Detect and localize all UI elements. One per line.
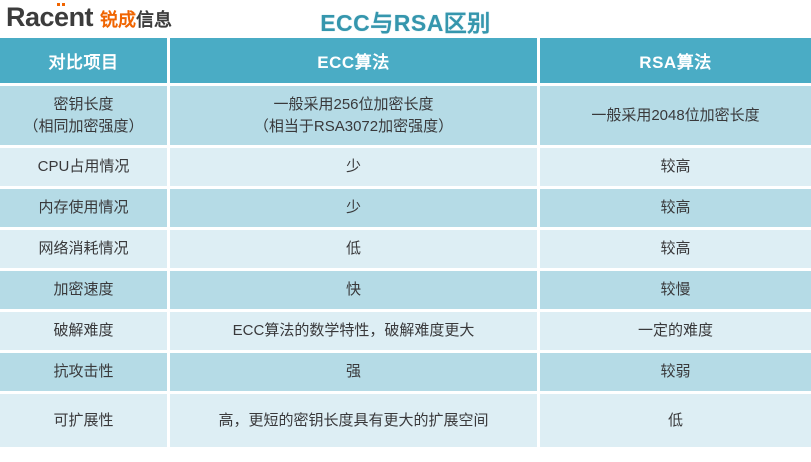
page-root: Racent 锐成信息 ECC与RSA区别 对比项目 ECC算法 RSA算法 密… [0,0,811,462]
table-row: 加密速度 快 较慢 [0,271,811,312]
cell-text: （相当于RSA3072加密强度） [176,116,531,138]
cell-text: 密钥长度 [6,94,161,116]
cell-item: 破解难度 [0,312,170,353]
cell-rsa: 较高 [540,189,811,230]
cell-ecc: 少 [170,189,540,230]
cell-text: 少 [346,158,361,175]
cell-item: 内存使用情况 [0,189,170,230]
table-row: 内存使用情况 少 较高 [0,189,811,230]
cell-text: 破解难度 [53,322,113,339]
cell-rsa: 一般采用2048位加密长度 [540,86,811,148]
cell-rsa: 较慢 [540,271,811,312]
cell-text: 较弱 [660,363,690,380]
cell-text: 一定的难度 [638,322,713,339]
cell-item: CPU占用情况 [0,148,170,189]
cell-text: 内存使用情况 [38,199,128,216]
cell-item: 密钥长度 （相同加密强度） [0,86,170,148]
cell-text: 快 [346,281,361,298]
cell-text: 网络消耗情况 [38,240,128,257]
cell-text: 高，更短的密钥长度具有更大的扩展空间 [218,412,488,429]
table-header-row: 对比项目 ECC算法 RSA算法 [0,38,811,86]
cell-ecc: 强 [170,353,540,394]
column-header-rsa: RSA算法 [540,38,811,86]
cell-item: 抗攻击性 [0,353,170,394]
table-row: 抗攻击性 强 较弱 [0,353,811,394]
cell-text: 低 [346,240,361,257]
cell-rsa: 较弱 [540,353,811,394]
cell-text: 加密速度 [53,281,113,298]
table-row: 密钥长度 （相同加密强度） 一般采用256位加密长度 （相当于RSA3072加密… [0,86,811,148]
cell-text: 较高 [660,199,690,216]
cell-text: 低 [668,412,683,429]
column-header-item: 对比项目 [0,38,170,86]
cell-item: 网络消耗情况 [0,230,170,271]
table-row: 网络消耗情况 低 较高 [0,230,811,271]
cell-text: 少 [346,199,361,216]
table-row: 可扩展性 高，更短的密钥长度具有更大的扩展空间 低 [0,394,811,450]
cell-ecc: 高，更短的密钥长度具有更大的扩展空间 [170,394,540,450]
cell-text: CPU占用情况 [38,158,130,175]
cell-text: 抗攻击性 [53,363,113,380]
cell-ecc: 少 [170,148,540,189]
cell-item: 加密速度 [0,271,170,312]
comparison-table: 对比项目 ECC算法 RSA算法 密钥长度 （相同加密强度） 一般采用256位加… [0,38,811,450]
cell-ecc: 低 [170,230,540,271]
cell-text: 一般采用256位加密长度 [176,94,531,116]
page-title: ECC与RSA区别 [0,4,811,38]
table-row: CPU占用情况 少 较高 [0,148,811,189]
cell-rsa: 一定的难度 [540,312,811,353]
cell-ecc: 一般采用256位加密长度 （相当于RSA3072加密强度） [170,86,540,148]
column-header-ecc: ECC算法 [170,38,540,86]
cell-text: （相同加密强度） [6,116,161,138]
top-bar: Racent 锐成信息 ECC与RSA区别 [0,0,811,38]
cell-text: 较高 [660,158,690,175]
cell-item: 可扩展性 [0,394,170,450]
cell-text: 强 [346,363,361,380]
cell-rsa: 较高 [540,230,811,271]
cell-ecc: 快 [170,271,540,312]
table-body: 密钥长度 （相同加密强度） 一般采用256位加密长度 （相当于RSA3072加密… [0,86,811,450]
cell-text: 较慢 [660,281,690,298]
cell-rsa: 较高 [540,148,811,189]
cell-text: ECC算法的数学特性，破解难度更大 [233,322,475,339]
cell-text: 可扩展性 [53,412,113,429]
cell-ecc: ECC算法的数学特性，破解难度更大 [170,312,540,353]
table-header: 对比项目 ECC算法 RSA算法 [0,38,811,86]
cell-text: 一般采用2048位加密长度 [591,107,759,124]
cell-ecc-lines: 一般采用256位加密长度 （相当于RSA3072加密强度） [176,94,531,138]
cell-item-lines: 密钥长度 （相同加密强度） [6,94,161,138]
table-row: 破解难度 ECC算法的数学特性，破解难度更大 一定的难度 [0,312,811,353]
cell-rsa: 低 [540,394,811,450]
cell-text: 较高 [660,240,690,257]
